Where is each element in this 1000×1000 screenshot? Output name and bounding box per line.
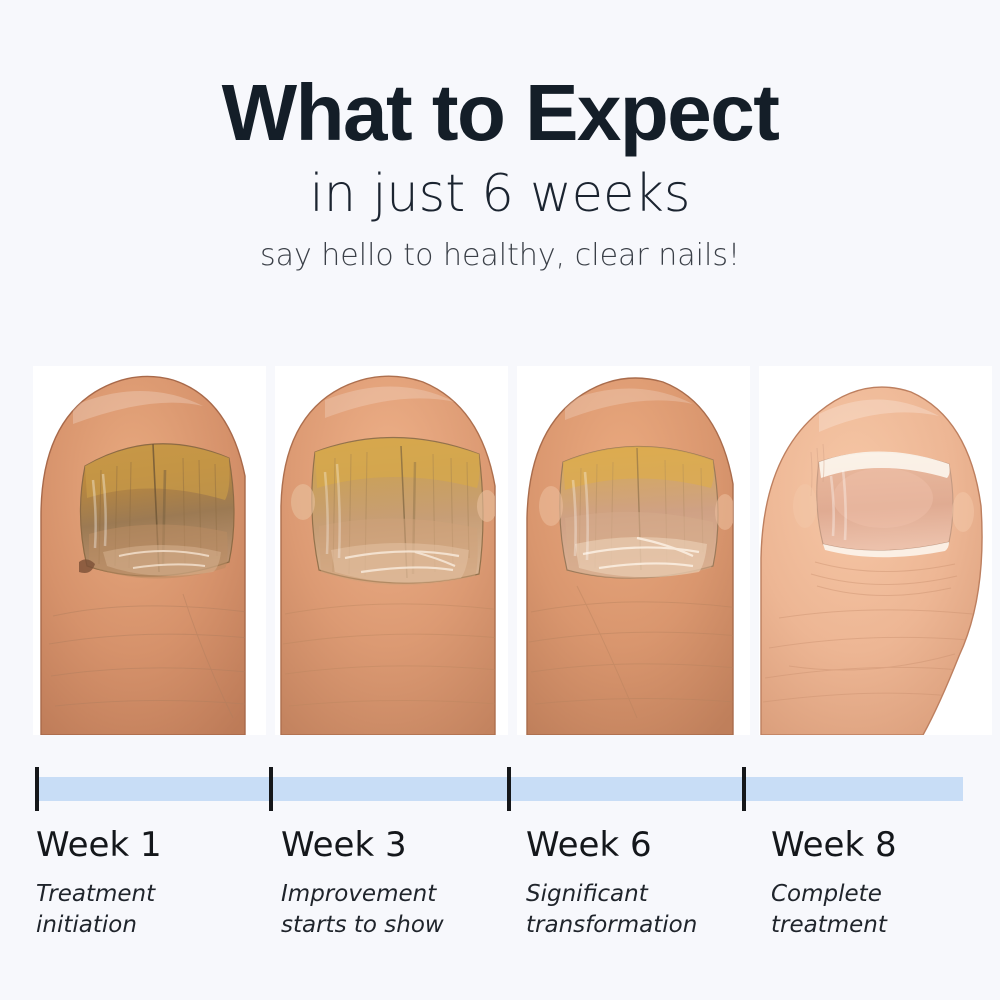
stage-label-week-8: Week 8 Completetreatment (768, 825, 1000, 975)
week-title: Week 6 (526, 825, 759, 865)
stage-label-week-6: Week 6 Significanttransformation (523, 825, 759, 975)
page-title: What to Expect (0, 72, 1000, 154)
stage-label-week-3: Week 3 Improvementstarts to show (278, 825, 514, 975)
week-description: Treatmentinitiation (36, 879, 269, 941)
timeline-bar (38, 777, 963, 801)
infographic-page: What to Expect in just 6 weeks say hello… (0, 0, 1000, 1000)
timeline-tick-3 (507, 767, 511, 811)
page-tagline: say hello to healthy, clear nails! (0, 238, 1000, 274)
week-description: Improvementstarts to show (281, 879, 514, 941)
toenail-photo-week-8 (759, 366, 992, 735)
week-description: Significanttransformation (526, 879, 759, 941)
toenail-photo-week-1 (33, 366, 266, 735)
photo-strip (33, 366, 975, 735)
header: What to Expect in just 6 weeks say hello… (0, 0, 1000, 274)
page-subtitle: in just 6 weeks (10, 164, 990, 224)
week-title: Week 1 (36, 825, 269, 865)
timeline-tick-1 (35, 767, 39, 811)
timeline-labels: Week 1 Treatmentinitiation Week 3 Improv… (33, 825, 975, 975)
week-title: Week 3 (281, 825, 514, 865)
week-description: Completetreatment (771, 879, 1000, 941)
stage-label-week-1: Week 1 Treatmentinitiation (33, 825, 269, 975)
week-title: Week 8 (771, 825, 1000, 865)
timeline-tick-4 (742, 767, 746, 811)
toenail-photo-week-6 (517, 366, 750, 735)
timeline-tick-2 (269, 767, 273, 811)
toenail-photo-week-3 (275, 366, 508, 735)
